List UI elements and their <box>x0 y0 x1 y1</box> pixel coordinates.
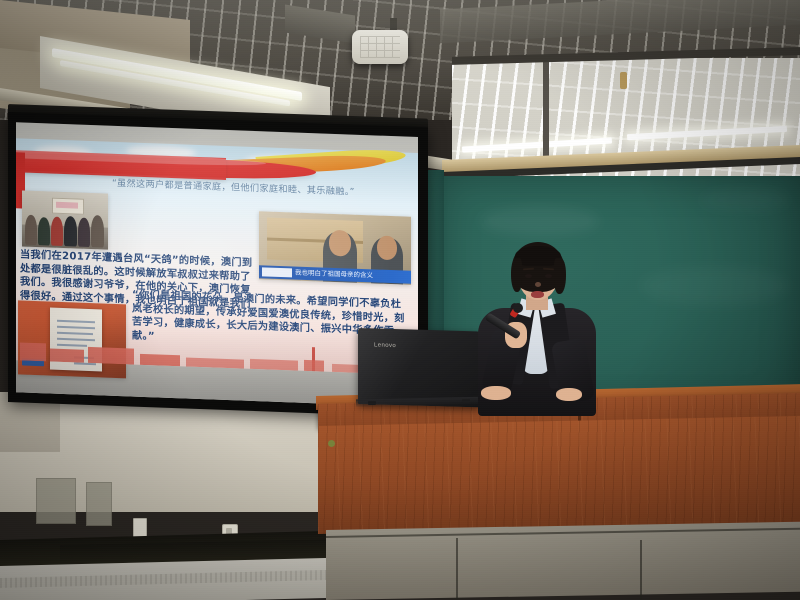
podium-base-seam-2 <box>456 538 458 600</box>
presenter-eye-left <box>525 274 532 278</box>
presenter-eye-right <box>545 274 552 278</box>
skyline-block <box>50 349 84 363</box>
slide-photo-family-visit <box>22 191 108 250</box>
letter-text-line <box>57 320 95 323</box>
wall-access-panel-1 <box>36 478 76 524</box>
photo-person <box>25 215 37 245</box>
skyline-block <box>304 360 324 372</box>
news-child-1-face <box>329 230 351 257</box>
photo-person <box>91 215 104 247</box>
podium-front-panel <box>318 416 800 534</box>
laptop-brand-logo: Lenovo <box>374 342 396 349</box>
presenter-mouth <box>531 291 544 298</box>
laptop-lid[interactable]: Lenovo <box>358 328 480 407</box>
letter-text-line <box>57 332 93 335</box>
photo-person <box>78 218 90 247</box>
slide-quote-top: “虽然这两户都是普通家庭，但他们家庭和睦、其乐融融。” <box>112 178 408 201</box>
podium-sticker <box>328 440 335 447</box>
window-mullion <box>543 58 549 170</box>
skyline-block <box>250 359 298 371</box>
wifi-access-point-icon <box>352 30 408 64</box>
presenter-hand-on-podium <box>481 386 511 400</box>
slide-photo-news-interview: 我也明白了祖国母亲的含义 <box>259 211 411 285</box>
laptop-foot-right <box>462 399 470 403</box>
letter-text-line <box>57 326 95 329</box>
access-point-vent-grid <box>360 36 400 58</box>
presenter-hand-right <box>556 388 582 401</box>
classroom-scene: “虽然这两户都是普通家庭，但他们家庭和睦、其乐融融。” <box>0 0 800 600</box>
window-latch-icon[interactable] <box>620 72 627 89</box>
photo-person <box>64 216 77 246</box>
news-child-2-face <box>377 236 397 261</box>
laptop-foot <box>368 401 376 405</box>
chalk-smudge <box>480 206 600 236</box>
photo-person <box>38 217 50 245</box>
presenter-hair-side-left <box>511 258 522 292</box>
skyline-block <box>88 347 134 365</box>
podium-wood-grain-front <box>318 416 800 534</box>
wall-access-panel-2 <box>86 482 112 526</box>
presenter-hair-side-right <box>554 258 566 294</box>
photo-picture-tint <box>56 202 78 209</box>
skyline-block <box>140 354 180 366</box>
laptop-lid-sheen <box>358 328 480 407</box>
chalk-smudge-2 <box>640 266 790 306</box>
podium-base-seam-3 <box>640 540 642 600</box>
microphone-head <box>513 303 523 313</box>
photo-person <box>51 217 63 246</box>
presenter-nose <box>535 282 541 287</box>
news-banner-tag <box>262 267 292 277</box>
chalk-smudge-3 <box>700 188 790 212</box>
skyline-block <box>20 342 46 361</box>
